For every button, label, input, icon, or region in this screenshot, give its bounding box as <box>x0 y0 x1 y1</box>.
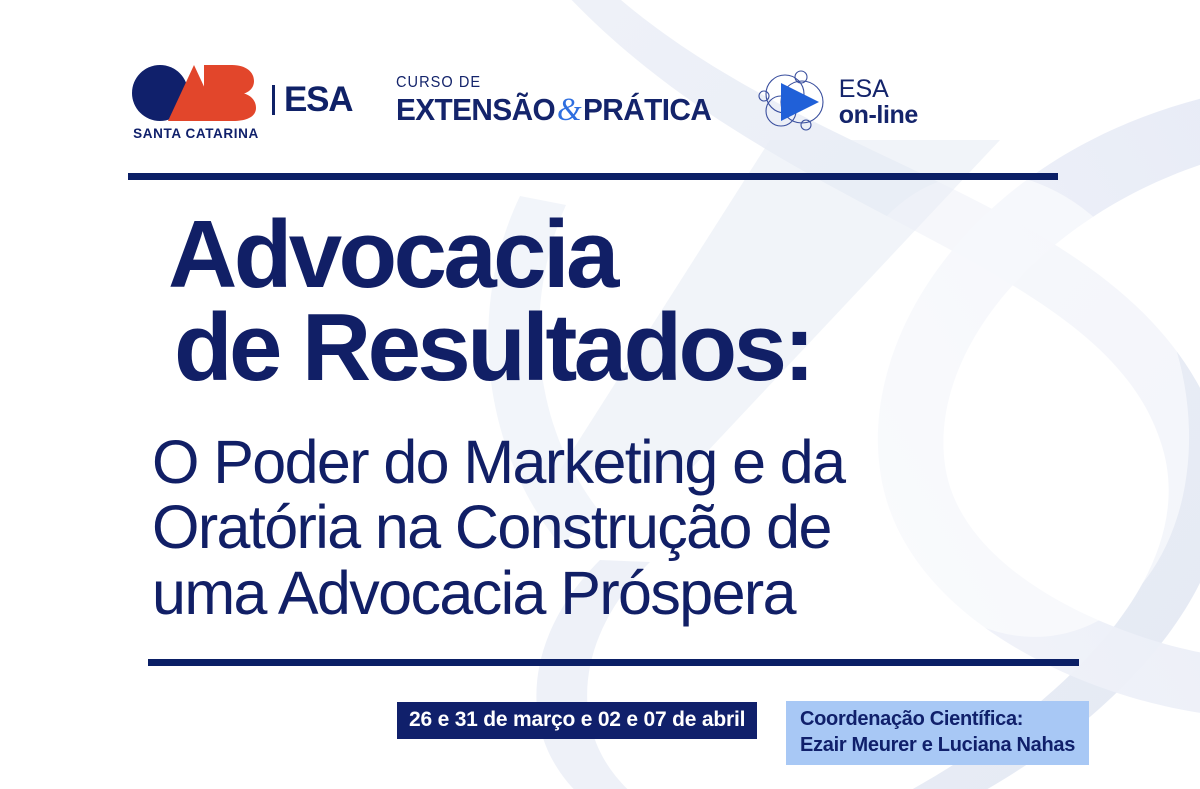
oab-logo: SANTA CATARINA <box>132 64 260 144</box>
scientific-coordination-badge: Coordenação Científica: Ezair Meurer e L… <box>786 701 1089 765</box>
page-subtitle-line1: O Poder do Marketing e da <box>152 430 844 495</box>
coordination-names: Ezair Meurer e Luciana Nahas <box>800 733 1075 759</box>
page-title-line1: Advocacia <box>168 208 812 301</box>
esa-online-logo: ESA on-line <box>755 67 918 137</box>
oab-mark-icon: SANTA CATARINA <box>132 64 260 144</box>
course-ampersand: & <box>555 92 583 128</box>
play-icon <box>781 83 819 121</box>
course-title-left: EXTENSÃO <box>396 92 555 127</box>
esa-online-line2: on-line <box>839 102 918 128</box>
oab-esa-divider <box>272 85 275 115</box>
oab-esa-label: ESA <box>284 80 352 120</box>
esa-online-line1: ESA <box>839 76 918 102</box>
oab-state-label: SANTA CATARINA <box>133 126 259 141</box>
esa-online-circles-icon <box>755 67 833 137</box>
page-title: Advocacia de Resultados: <box>168 208 812 394</box>
course-type-lockup: CURSO DE EXTENSÃO&PRÁTICA <box>396 75 724 128</box>
poster-canvas: SANTA CATARINA ESA CURSO DE EXTENSÃO&PRÁ… <box>0 0 1200 789</box>
header-logo-bar: SANTA CATARINA ESA CURSO DE EXTENSÃO&PRÁ… <box>132 62 918 146</box>
page-subtitle-line2: Oratória na Construção de <box>152 495 844 560</box>
event-dates-badge: 26 e 31 de março e 02 e 07 de abril <box>397 702 757 739</box>
page-title-line2: de Resultados: <box>174 301 812 394</box>
course-kicker: CURSO DE <box>396 75 705 91</box>
page-subtitle: O Poder do Marketing e da Oratória na Co… <box>152 430 844 626</box>
divider-top <box>128 173 1058 180</box>
coordination-label: Coordenação Científica: <box>800 707 1075 733</box>
page-subtitle-line3: uma Advocacia Próspera <box>152 561 844 626</box>
divider-bottom <box>148 659 1079 666</box>
course-title: EXTENSÃO&PRÁTICA <box>396 94 711 127</box>
course-title-right: PRÁTICA <box>583 92 711 127</box>
